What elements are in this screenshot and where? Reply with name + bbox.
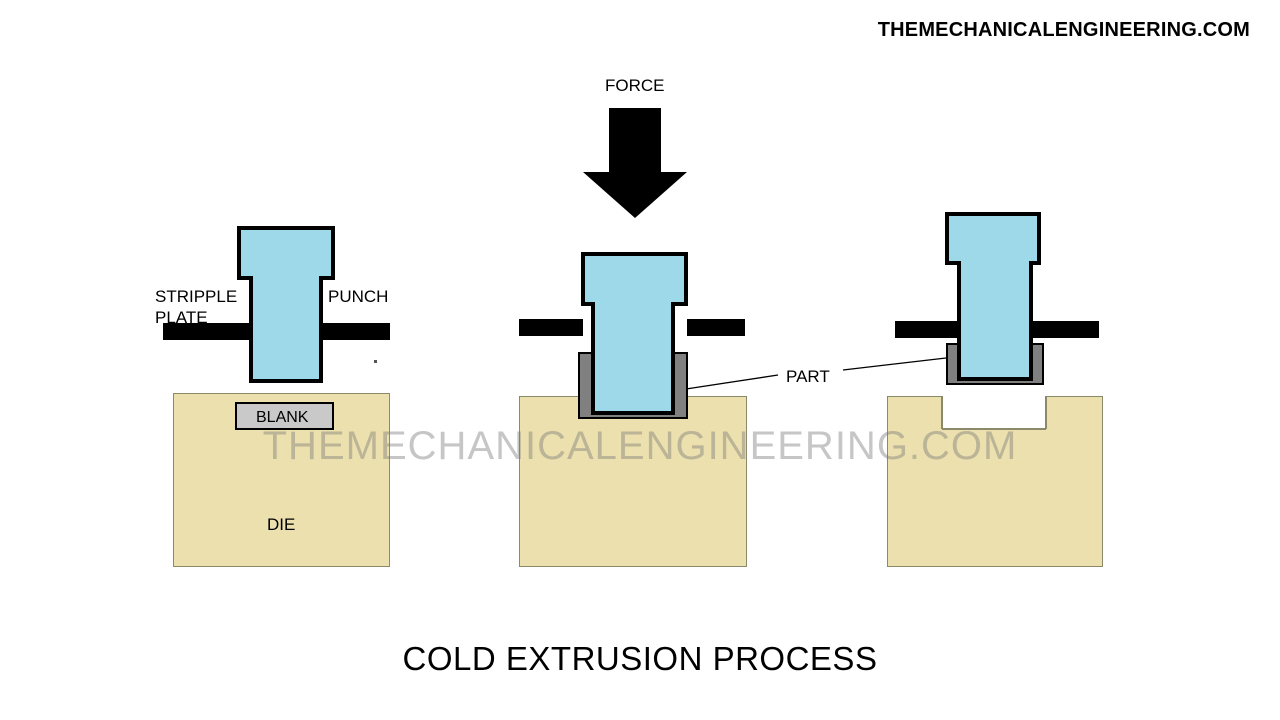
punch-label: PUNCH bbox=[328, 286, 388, 307]
part-leader-line-left bbox=[686, 375, 778, 389]
stripper-plate-left-segment bbox=[519, 319, 583, 336]
punch-head bbox=[237, 226, 335, 280]
force-arrow-icon bbox=[583, 108, 687, 218]
punch-head bbox=[581, 252, 688, 306]
part-leader-line-right bbox=[843, 358, 946, 370]
punch-shaft bbox=[591, 302, 675, 415]
die-cavity-left-edge bbox=[941, 396, 943, 429]
force-label: FORCE bbox=[605, 75, 665, 96]
part-label: PART bbox=[786, 366, 830, 387]
die-cavity-floor-edge bbox=[942, 428, 1046, 430]
stripple-plate-label: STRIPPLE PLATE bbox=[155, 286, 237, 329]
die-cavity bbox=[942, 396, 1046, 429]
site-credit: THEMECHANICALENGINEERING.COM bbox=[878, 19, 1250, 42]
punch-shaft bbox=[249, 276, 323, 383]
stray-dot-artifact bbox=[374, 360, 377, 363]
punch-shaft bbox=[957, 261, 1033, 381]
blank-label: BLANK bbox=[256, 408, 308, 428]
die-block bbox=[519, 396, 747, 567]
die-cavity-right-edge bbox=[1045, 396, 1047, 429]
stripper-plate-right-segment bbox=[1033, 321, 1099, 338]
die-label: DIE bbox=[267, 514, 295, 535]
punch-head bbox=[945, 212, 1041, 265]
diagram-canvas: THEMECHANICALENGINEERING.COM FORCE STRIP… bbox=[0, 0, 1280, 720]
stripper-plate-left-segment bbox=[895, 321, 958, 338]
diagram-title: COLD EXTRUSION PROCESS bbox=[0, 640, 1280, 678]
stripper-plate-right-segment bbox=[687, 319, 745, 336]
stripper-plate-right-segment bbox=[319, 323, 390, 340]
